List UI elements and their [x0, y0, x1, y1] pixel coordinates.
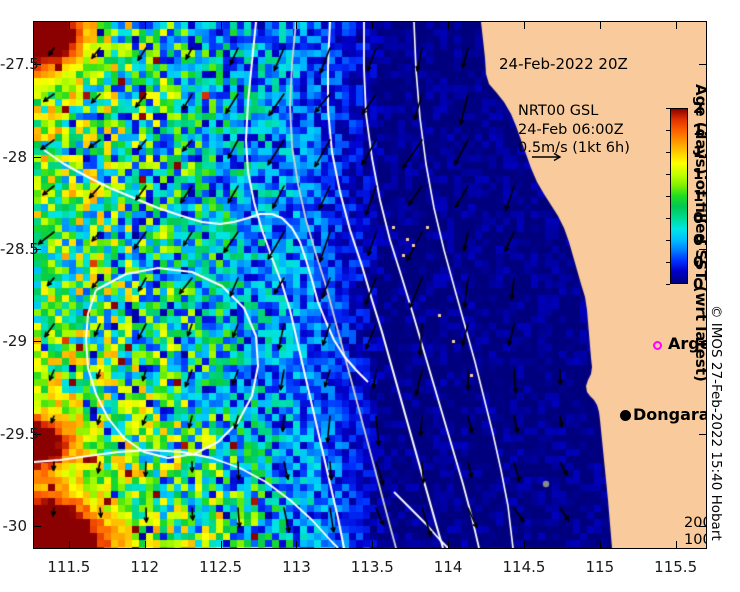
y-tick-right [699, 64, 706, 65]
x-tick [676, 541, 677, 548]
colorbar-tick [666, 218, 670, 219]
y-tick-label: -28 [0, 148, 27, 166]
colorbar-tick [666, 240, 670, 241]
x-tick-top [524, 22, 525, 29]
colorbar-tick [666, 196, 670, 197]
x-tick-label: 111.5 [47, 558, 90, 576]
y-tick-label: -27.5 [0, 55, 27, 73]
x-tick [524, 541, 525, 548]
y-tick-label: -30 [0, 517, 27, 535]
y-tick-right [699, 249, 706, 250]
colorbar: 21.751.51.2510.750.50.250 [670, 108, 688, 284]
x-tick [600, 541, 601, 548]
y-tick [34, 526, 41, 527]
x-tick [145, 541, 146, 548]
x-tick-top [145, 22, 146, 29]
vector-scale-arrow-icon [532, 152, 564, 162]
date-stamp: 24-Feb-2022 20Z [499, 55, 628, 73]
colorbar-tick [666, 108, 670, 109]
depth-label-1000m: 1000m [684, 532, 707, 549]
argo-marker-icon [653, 341, 662, 350]
x-tick-label: 115 [585, 558, 614, 576]
nrt-annotation-block: NRT00 GSL 24-Feb 06:00Z 0.5m/s (1kt 6h) [518, 102, 630, 158]
y-tick [34, 157, 41, 158]
figure-root: 24-Feb-2022 20Z NRT00 GSL 24-Feb 06:00Z … [0, 0, 740, 592]
x-tick-label: 114 [434, 558, 463, 576]
y-tick [34, 341, 41, 342]
depth-label-200m: 200m [684, 515, 707, 532]
sst-age-heatmap-canvas [34, 22, 706, 548]
x-tick-label: 114.5 [502, 558, 545, 576]
x-tick-label: 113.5 [351, 558, 394, 576]
x-tick-top [600, 22, 601, 29]
x-tick-top [448, 22, 449, 29]
x-tick [296, 541, 297, 548]
x-tick [448, 541, 449, 548]
x-tick-top [296, 22, 297, 29]
colorbar-tick [666, 284, 670, 285]
x-tick-top [372, 22, 373, 29]
colorbar-tick [666, 152, 670, 153]
colorbar-tick [666, 174, 670, 175]
x-tick-label: 115.5 [654, 558, 697, 576]
x-tick-label: 113 [282, 558, 311, 576]
y-tick-right [699, 434, 706, 435]
x-tick-top [221, 22, 222, 29]
y-tick-label: -28.5 [0, 240, 27, 258]
y-tick-label: -29 [0, 332, 27, 350]
x-tick [69, 541, 70, 548]
nrt-line-2: 24-Feb 06:00Z [518, 121, 630, 140]
nrt-line-1: NRT00 GSL [518, 102, 630, 121]
x-tick-top [69, 22, 70, 29]
x-tick-top [676, 22, 677, 29]
colorbar-title: Age (days) of filled SST (wrt latest) [692, 84, 707, 382]
x-tick-label: 112.5 [199, 558, 242, 576]
colorbar-tick [666, 262, 670, 263]
dongara-marker-icon [620, 410, 631, 421]
map-plot-area[interactable]: 24-Feb-2022 20Z NRT00 GSL 24-Feb 06:00Z … [33, 21, 707, 549]
copyright-text: © IMOS 27-Feb-2022 15:40 Hobart [708, 305, 724, 541]
colorbar-tick [666, 130, 670, 131]
y-tick-label: -29.5 [0, 425, 27, 443]
x-tick-label: 112 [130, 558, 159, 576]
x-tick [221, 541, 222, 548]
x-tick [372, 541, 373, 548]
dongara-label: Dongara [633, 405, 707, 424]
y-tick-right [699, 526, 706, 527]
y-tick-right [699, 341, 706, 342]
colorbar-gradient [670, 108, 688, 284]
y-tick-right [699, 157, 706, 158]
depth-contour-legend: 200m 1000m [684, 515, 707, 549]
